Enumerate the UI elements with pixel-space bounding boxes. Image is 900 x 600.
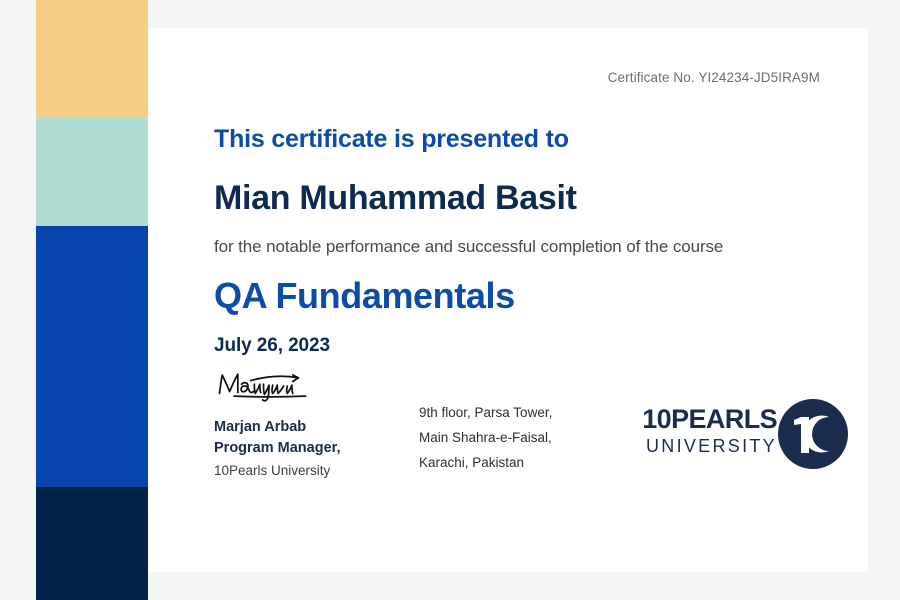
course-intro-text: for the notable performance and successf…: [214, 237, 844, 257]
recipient-name: Mian Muhammad Basit: [214, 180, 844, 217]
color-band-segment-mint: [36, 118, 148, 226]
logo-wordmark-secondary: UNIVERSITY: [642, 436, 777, 457]
certificate-footer: Marjan Arbab Program Manager, 10Pearls U…: [214, 368, 854, 518]
color-band-segment-navy: [36, 487, 148, 600]
decorative-color-band: [36, 0, 148, 600]
handwritten-signature-icon: [214, 368, 324, 406]
logo-wordmark: 10PEARLS UNIVERSITY: [642, 406, 777, 457]
color-band-segment-blue: [36, 226, 148, 487]
certificate-body: This certificate is presented to Mian Mu…: [214, 126, 844, 357]
presented-to-heading: This certificate is presented to: [214, 126, 844, 154]
address-block: 9th floor, Parsa Tower, Main Shahra-e-Fa…: [419, 401, 609, 476]
signatory-role: Program Manager,: [214, 438, 394, 459]
logo-wordmark-primary: 10PEARLS: [642, 406, 777, 433]
course-title: QA Fundamentals: [214, 277, 844, 315]
signatory-organization: 10Pearls University: [214, 461, 394, 481]
logo-badge-icon: [777, 398, 849, 470]
certificate-number: Certificate No. YI24234-JD5IRA9M: [608, 70, 820, 85]
address-line-3: Karachi, Pakistan: [419, 451, 609, 476]
signatory-name: Marjan Arbab: [214, 417, 394, 438]
address-line-2: Main Shahra-e-Faisal,: [419, 426, 609, 451]
address-line-1: 9th floor, Parsa Tower,: [419, 401, 609, 426]
signature-block: Marjan Arbab Program Manager, 10Pearls U…: [214, 368, 394, 481]
issue-date: July 26, 2023: [214, 335, 844, 357]
organization-logo: 10PEARLS UNIVERSITY: [634, 398, 849, 476]
color-band-segment-amber: [36, 0, 148, 118]
certificate-content: Certificate No. YI24234-JD5IRA9M This ce…: [148, 28, 868, 572]
certificate-stage: Certificate No. YI24234-JD5IRA9M This ce…: [0, 0, 900, 600]
